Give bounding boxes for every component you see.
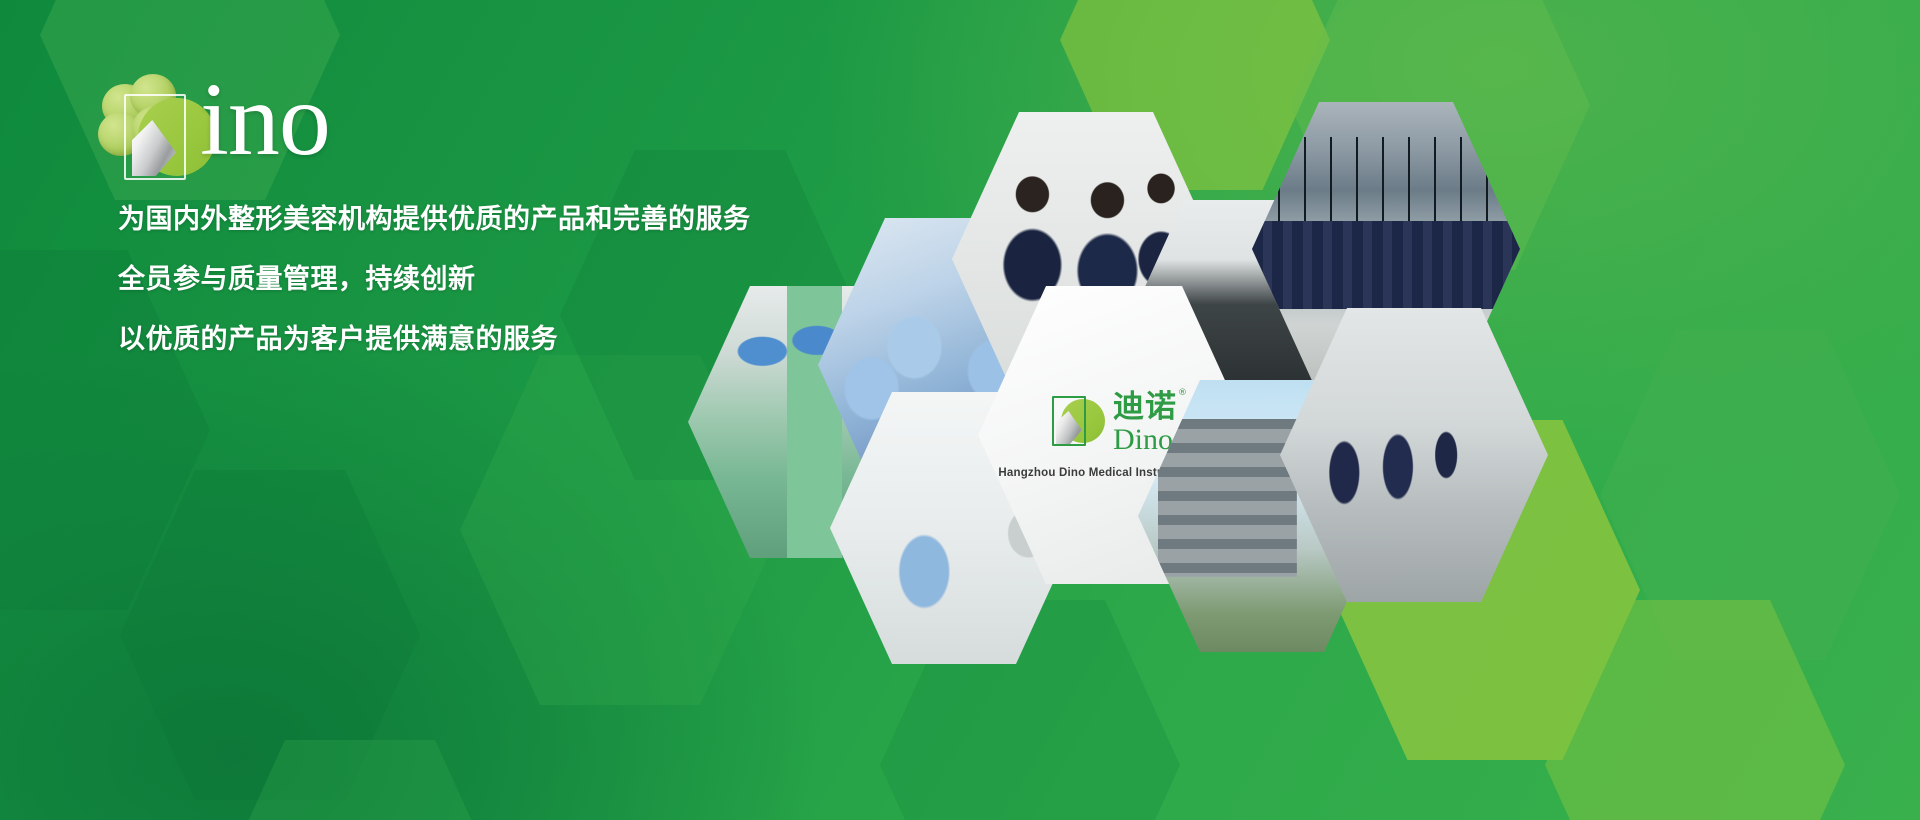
center-logo-chinese-name: 迪诺® xyxy=(1113,392,1177,423)
registered-trademark-icon: ® xyxy=(1178,389,1188,398)
hero-banner: ino 为国内外整形美容机构提供优质的产品和完善的服务 全员参与质量管理，持续创… xyxy=(0,0,1920,820)
hexagon-photo-cluster: 迪诺® Dino Hangzhou Dino Medical Instrumen… xyxy=(640,90,1920,650)
brand-logo: ino xyxy=(96,72,396,182)
center-logo-chinese-text: 迪诺 xyxy=(1113,389,1177,425)
center-logo-english-name: Dino xyxy=(1113,425,1177,455)
dino-leaf-page-logo-icon-small xyxy=(1051,395,1105,451)
center-logo-lockup: 迪诺® Dino xyxy=(1051,392,1177,455)
brand-wordmark: ino xyxy=(200,68,330,172)
